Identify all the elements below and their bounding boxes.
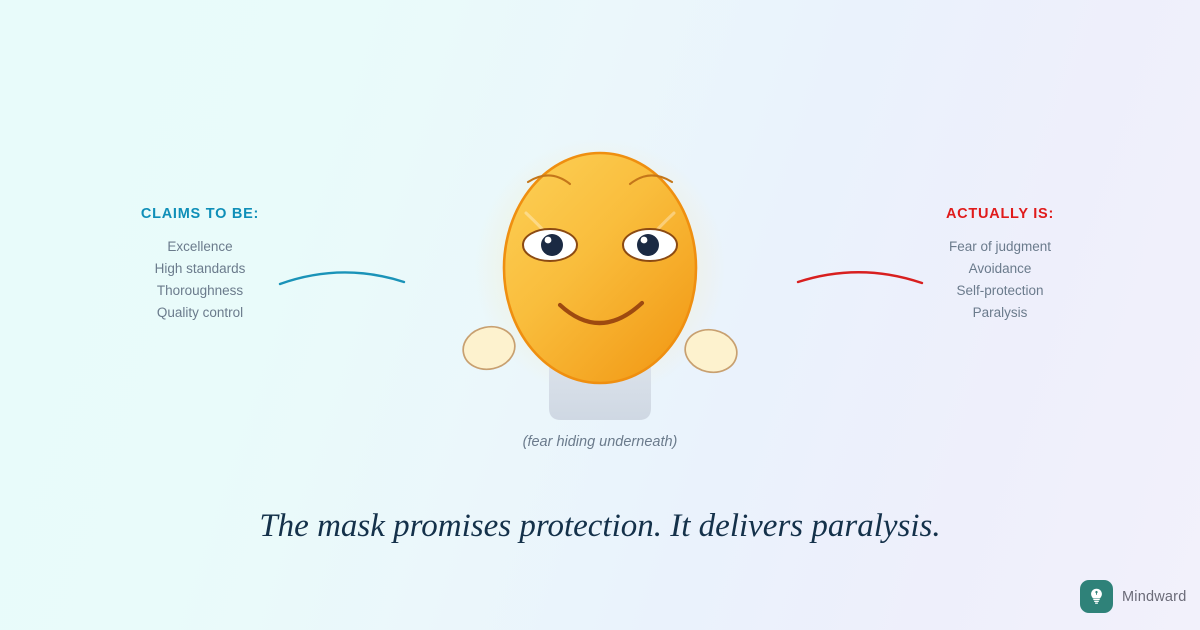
lightbulb-icon [1080,580,1113,613]
actually-panel-heading: ACTUALLY IS: [875,204,1125,224]
list-item: Avoidance [875,258,1125,280]
claims-connector-arc [272,252,412,294]
right-eye [623,229,677,261]
actually-panel: ACTUALLY IS: Fear of judgment Avoidance … [875,204,1125,324]
infographic-canvas: CLAIMS TO BE: Excellence High standards … [0,0,1200,630]
figure-caption: (fear hiding underneath) [0,434,1200,450]
brand-name: Mindward [1122,589,1186,605]
smiling-mask-face-icon [440,140,760,440]
left-eye [523,229,577,261]
tagline: The mask promises protection. It deliver… [0,508,1200,545]
claims-panel-heading: CLAIMS TO BE: [75,204,325,224]
brand-badge: Mindward [1080,580,1186,613]
list-item: Self-protection [875,280,1125,302]
actually-list: Fear of judgment Avoidance Self-protecti… [875,236,1125,324]
list-item: Fear of judgment [875,236,1125,258]
list-item: Paralysis [875,302,1125,324]
list-item: Quality control [75,302,325,324]
mask-shape [504,153,696,383]
